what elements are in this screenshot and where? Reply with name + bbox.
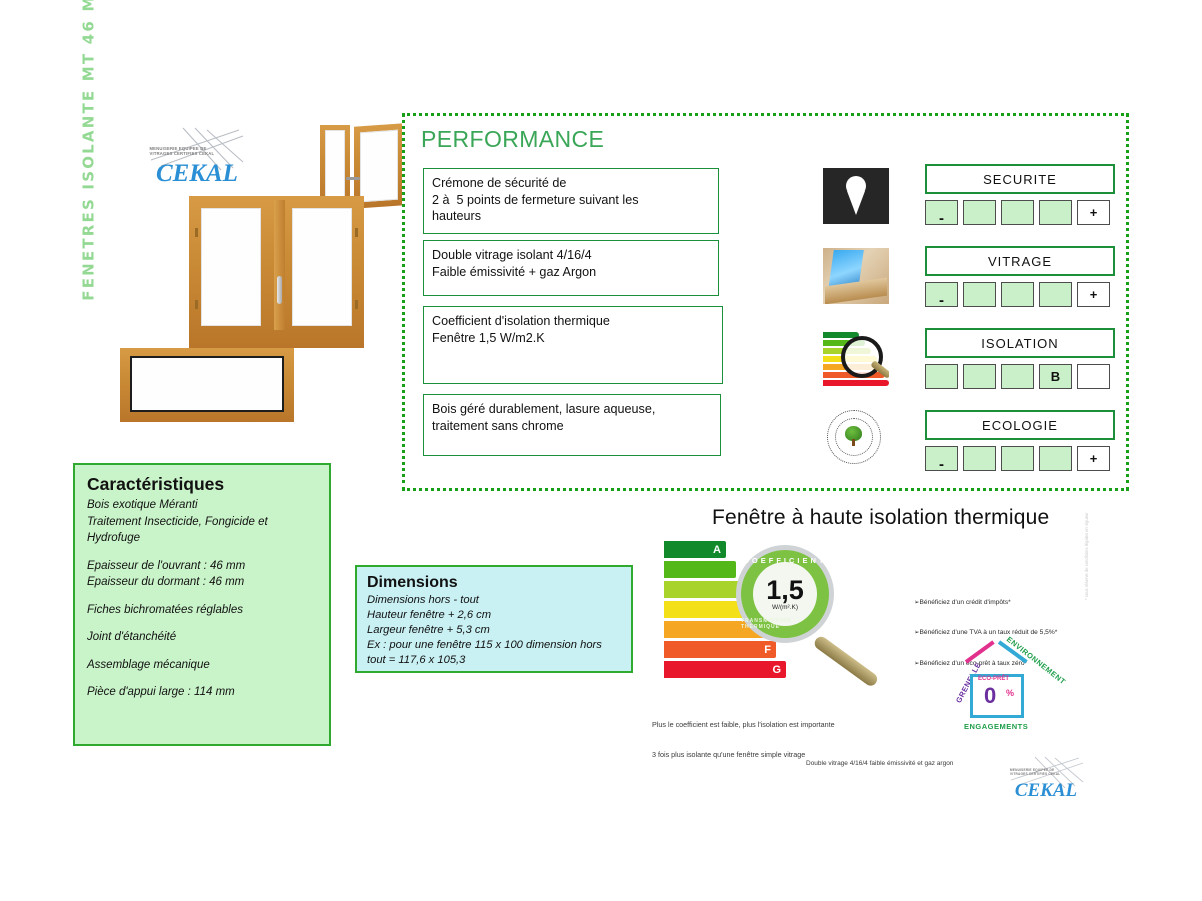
dimensions-line: Hauteur fenêtre + 2,6 cm xyxy=(367,608,621,623)
rating-row-isolation: ISOLATION B xyxy=(925,328,1115,403)
keyhole-icon xyxy=(823,168,889,224)
caracteristiques-line: Assemblage mécanique xyxy=(87,657,317,674)
caracteristiques-line: Bois exotique Méranti xyxy=(87,497,317,514)
coefficient-value: 1,5 xyxy=(766,577,804,603)
dimensions-line: Dimensions hors - tout xyxy=(367,593,621,608)
rating-cell[interactable] xyxy=(1001,282,1034,307)
dimensions-box: Dimensions Dimensions hors - tout Hauteu… xyxy=(355,565,633,673)
coefficient-unit: W/(m².K) xyxy=(772,604,798,611)
datasheet-page: FENETRES ISOLANTE MT 46 MM MENUISERIE EQ… xyxy=(0,0,1202,901)
eco-pret-label: ECO-PRÊT xyxy=(978,676,1009,682)
feature-box-insulation: Coefficient d'isolation thermique Fenêtr… xyxy=(423,306,723,384)
magnifier-arc-bottom: TRANSMISSION THERMIQUE xyxy=(741,618,829,630)
energy-bar-a: A xyxy=(664,541,726,558)
window-hinge xyxy=(355,300,358,309)
feature-box-security: Crémone de sécurité de 2 à 5 points de f… xyxy=(423,168,719,234)
eco-tree-icon xyxy=(823,408,889,464)
benefit-credit-impots: ➢Bénéficiez d'un crédit d'impôts* xyxy=(914,598,1011,606)
window-hinge xyxy=(195,300,198,309)
energy-bar-b xyxy=(664,561,736,578)
energy-bar-f: F xyxy=(664,641,776,658)
window-handle xyxy=(277,276,282,304)
rating-label-securite: SECURITE xyxy=(925,164,1115,194)
performance-panel: PERFORMANCE Crémone de sécurité de 2 à 5… xyxy=(402,113,1129,491)
energy-bar-c xyxy=(664,581,746,598)
caracteristiques-line: Joint d'étanchéité xyxy=(87,629,317,646)
window-mullion xyxy=(274,200,285,330)
rating-cell[interactable] xyxy=(963,364,996,389)
cekal-wordmark: CEKAL xyxy=(156,160,238,188)
dimensions-line: Largeur fenêtre + 5,3 cm xyxy=(367,623,621,638)
rating-cells: - + xyxy=(925,446,1115,471)
dimensions-line: Ex : pour une fenêtre 115 x 100 dimensio… xyxy=(367,638,621,653)
benefit-tva-reduite: ➢Bénéficiez d'une TVA à un taux réduit d… xyxy=(914,628,1057,636)
magnifier-arc-top: COEFFICIENT xyxy=(744,556,827,565)
rating-cell[interactable] xyxy=(925,364,958,389)
energy-magnifier-icon xyxy=(823,330,889,386)
rating-cell[interactable] xyxy=(1039,446,1072,471)
window-photo-double-casement xyxy=(189,196,364,348)
rating-cell[interactable] xyxy=(963,282,996,307)
rating-cell[interactable]: + xyxy=(1077,446,1110,471)
energy-bar-g: G xyxy=(664,661,786,678)
glass-pane xyxy=(325,130,345,204)
rating-cell[interactable] xyxy=(1077,364,1110,389)
vertical-product-title: FENETRES ISOLANTE MT 46 MM xyxy=(72,130,106,490)
energy-caption: Plus le coefficient est faible, plus l'i… xyxy=(652,700,912,780)
window-photo-transom xyxy=(120,348,294,422)
glass-pane xyxy=(130,356,284,412)
rating-label-ecologie: ECOLOGIE xyxy=(925,410,1115,440)
rating-cell[interactable]: + xyxy=(1077,282,1110,307)
rating-cell[interactable] xyxy=(963,446,996,471)
rating-cell[interactable]: - xyxy=(925,446,958,471)
glass-pane xyxy=(360,130,398,203)
grenelle-environnement-logo: GRENELLE ENVIRONNEMENT ECO-PRÊT 0 % ENGA… xyxy=(944,652,1050,738)
rating-row-ecologie: ECOLOGIE - + xyxy=(925,410,1115,485)
window-glass-icon xyxy=(823,248,889,304)
caracteristiques-line: Traitement Insecticide, Fongicide et xyxy=(87,514,317,531)
performance-title: PERFORMANCE xyxy=(421,126,604,153)
vertical-product-title-label: FENETRES ISOLANTE MT 46 MM xyxy=(80,0,98,301)
rating-label-vitrage: VITRAGE xyxy=(925,246,1115,276)
cekal-tagline: MENUISERIE EQUIPEE DE VITRAGES CERTIFIES… xyxy=(1010,769,1085,777)
caracteristiques-line: Epaisseur du dormant : 46 mm xyxy=(87,574,317,591)
rating-cells: - + xyxy=(925,282,1115,307)
rating-cell[interactable]: - xyxy=(925,200,958,225)
cekal-logo-footer: MENUISERIE EQUIPEE DE VITRAGES CERTIFIES… xyxy=(1005,755,1087,803)
dimensions-line: tout = 117,6 x 105,3 xyxy=(367,653,621,668)
rating-cell[interactable]: + xyxy=(1077,200,1110,225)
rating-row-securite: SECURITE - + xyxy=(925,164,1115,239)
glass-pane-right xyxy=(292,208,352,326)
feature-box-ecology: Bois géré durablement, lasure aqueuse, t… xyxy=(423,394,721,456)
sash-handle xyxy=(346,177,360,180)
magnifier-inner: 1,5 W/(m².K) xyxy=(753,562,817,626)
rating-cell-selected[interactable]: B xyxy=(1039,364,1072,389)
window-hinge xyxy=(355,228,358,237)
magnifier-lens xyxy=(841,336,883,378)
rating-cell[interactable] xyxy=(1001,200,1034,225)
caracteristiques-line: Hydrofuge xyxy=(87,530,317,547)
energy-label-chart: A F G COEFFICIENT 1,5 W/(m².K) TRANSMISS… xyxy=(664,541,824,691)
rating-cells: - + xyxy=(925,200,1115,225)
caracteristiques-line: Pièce d'appui large : 114 mm xyxy=(87,684,317,701)
cekal-tagline: MENUISERIE EQUIPEE DE VITRAGES CERTIFIES… xyxy=(149,146,248,156)
rating-label-isolation: ISOLATION xyxy=(925,328,1115,358)
rating-cell[interactable] xyxy=(963,200,996,225)
coefficient-magnifier: COEFFICIENT 1,5 W/(m².K) TRANSMISSION TH… xyxy=(736,545,834,643)
footer-glazing-note: Double vitrage 4/16/4 faible émissivité … xyxy=(806,760,953,767)
side-legal-note: * sous réserve de conditions légales en … xyxy=(1084,512,1089,600)
caracteristiques-line: Epaisseur de l'ouvrant : 46 mm xyxy=(87,558,317,575)
rating-cell[interactable] xyxy=(1039,200,1072,225)
window-hinge xyxy=(195,228,198,237)
rating-cell[interactable]: - xyxy=(925,282,958,307)
rating-cell[interactable] xyxy=(1039,282,1072,307)
feature-box-glazing: Double vitrage isolant 4/16/4 Faible émi… xyxy=(423,240,719,296)
cekal-wordmark: CEKAL xyxy=(1015,780,1077,802)
rating-cells: B xyxy=(925,364,1115,389)
keyhole-shape xyxy=(846,176,866,196)
magnifier-handle xyxy=(812,634,880,688)
zero-label: 0 xyxy=(984,686,996,706)
grenelle-word-bottom: ENGAGEMENTS xyxy=(964,722,1028,731)
roof-left xyxy=(965,640,995,663)
rating-cell[interactable] xyxy=(1001,446,1034,471)
caracteristiques-box: Caractéristiques Bois exotique Méranti T… xyxy=(73,463,331,746)
caracteristiques-title: Caractéristiques xyxy=(87,474,317,495)
rating-row-vitrage: VITRAGE - + xyxy=(925,246,1115,321)
thermal-heading: Fenêtre à haute isolation thermique xyxy=(712,506,1049,530)
percent-label: % xyxy=(1006,688,1014,698)
glass-pane-left xyxy=(201,208,261,326)
rating-cell[interactable] xyxy=(1001,364,1034,389)
caracteristiques-line: Fiches bichromatées réglables xyxy=(87,602,317,619)
cekal-logo-top: MENUISERIE EQUIPEE DE VITRAGES CERTIFIES… xyxy=(143,126,251,192)
dimensions-title: Dimensions xyxy=(367,574,621,592)
